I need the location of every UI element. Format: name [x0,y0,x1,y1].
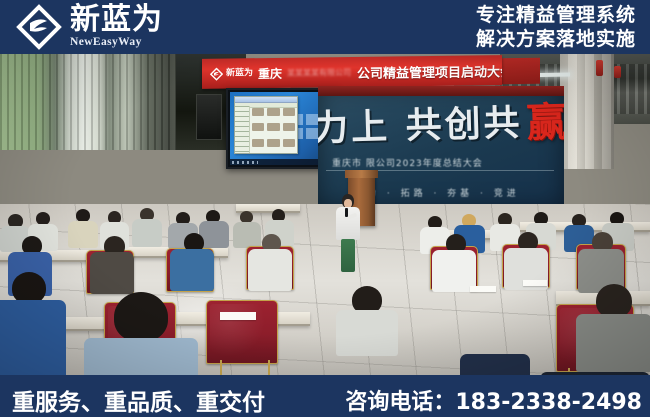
footer-bar: 重服务、重品质、重交付 咨询电话：183-2338-2498 [0,375,650,417]
brand-logo: 新蓝为 NewEasyWay [16,4,163,50]
chair-leg [220,360,222,375]
backdrop-slogan-text: 力上 共创共 [318,94,523,152]
paper-sheet [470,286,496,292]
chair-leg [268,360,270,375]
red-decoration-1 [596,60,603,76]
footer-phone: 咨询电话：183-2338-2498 [345,384,642,416]
audience-torso [90,252,134,294]
red-banner-tail [500,58,540,84]
audience-torso [170,249,214,291]
audience-torso [84,338,198,375]
room-pillar [560,54,614,169]
paper-sheet [523,280,547,286]
audience-torso [460,354,530,375]
backdrop-keywords: 聚力 · 拓路 · 夯基 · 竞进 [354,186,520,199]
explorer-file-grid [250,106,297,153]
audience-torso [248,249,292,291]
red-decoration-2 [614,66,621,78]
brand-name-cn: 新蓝为 [70,5,163,35]
backdrop-slogan-highlight: 赢 [526,89,564,148]
red-banner: 新蓝为 重庆 某某某某有限公司 公司精益管理项目启动大会 [202,55,502,89]
footer-phone-number: 183-2338-2498 [455,390,642,415]
audience-torso [0,300,66,375]
backdrop-subtitle: 重庆市 限公司2023年度总结大会 [332,156,562,169]
brand-name-en: NewEasyWay [70,37,163,49]
audience-torso [336,310,398,356]
microphone [345,208,348,217]
presenter-legs [341,239,355,272]
audience-torso [576,314,650,372]
paper-sheet [220,312,256,320]
backdrop-slogan: 力上 共创共 赢 [318,92,564,151]
presenter-torso [336,207,360,240]
audience-torso [132,219,162,247]
slogan-line-1: 专注精益管理系统 [476,3,636,27]
file-explorer-window [234,96,298,154]
footer-phone-label: 咨询电话： [345,390,455,415]
banner-title: 公司精益管理项目启动大会 [357,61,502,82]
banner-diamond-brand-icon [210,67,223,80]
audience-head [596,284,632,318]
conference-room-photo: 新蓝为 重庆 某某某某有限公司 公司精益管理项目启动大会 [0,54,650,375]
slogan-line-2: 解决方案落地实施 [476,27,636,51]
loudspeaker [196,94,222,140]
chair [206,300,278,364]
promo-image: 新蓝为 NewEasyWay 专注精益管理系统 解决方案落地实施 [0,0,650,417]
banner-company-blurred: 某某某某有限公司 [287,67,351,79]
banner-city: 重庆 [258,64,282,81]
banner-brand-cn: 新蓝为 [226,69,253,78]
audience-torso [233,222,261,248]
header-slogan: 专注精益管理系统 解决方案落地实施 [476,3,636,51]
audience-head [114,292,168,342]
audience-torso [68,221,98,248]
diamond-brand-icon [16,4,62,50]
footer-tagline: 重服务、重品质、重交付 [12,383,265,417]
header-bar: 新蓝为 NewEasyWay 专注精益管理系统 解决方案落地实施 [0,0,650,54]
explorer-nav-pane [235,106,250,153]
